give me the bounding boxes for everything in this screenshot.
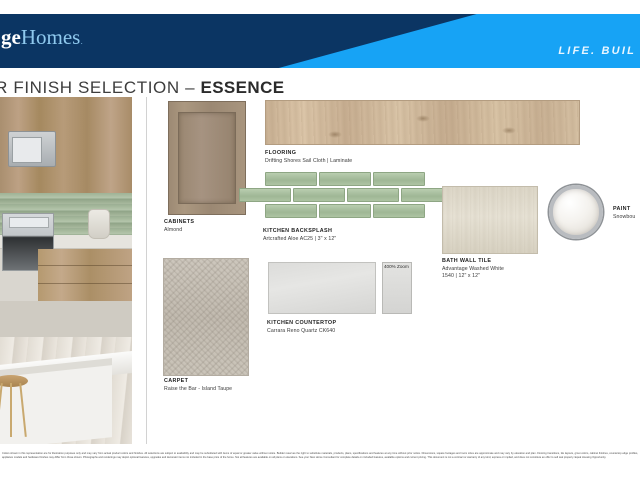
page-title: IOR FINISH SELECTION – ESSENCE (0, 78, 285, 98)
caption-flooring: FLOORING Drifting Shores Sail Cloth | La… (265, 150, 352, 164)
swatch-kitchen-countertop (268, 262, 376, 314)
caption-cabinets: CABINETS Almond (164, 219, 194, 233)
swatch-kitchen-backsplash (265, 172, 433, 222)
kitchen-interior-photo (0, 97, 132, 444)
caption-kitchen-backsplash: KITCHEN BACKSPLASH Artcrafted Aloe AC25 … (263, 228, 336, 242)
vertical-divider (146, 97, 147, 444)
caption-carpet-title: CARPET (164, 378, 232, 385)
caption-paint-detail: Snowbou (613, 214, 635, 221)
caption-countertop-detail: Carrara Reno Quartz CK640 (267, 328, 336, 335)
finish-selection-board: LIFE. BUIL ge Homes · IOR FINISH SELECTI… (0, 0, 640, 480)
logo-trademark: · (80, 39, 83, 48)
caption-bathtile-detail: Advantage Washed White (442, 266, 504, 273)
photo-base-cabinets (38, 249, 132, 301)
swatch-carpet (163, 258, 249, 376)
caption-cabinets-detail: Almond (164, 227, 194, 234)
swatch-countertop-zoom (382, 262, 412, 314)
swatch-cabinets (168, 101, 246, 215)
swatch-flooring (265, 100, 580, 145)
photo-decor-jar (88, 209, 110, 239)
caption-kitchen-countertop: KITCHEN COUNTERTOP Carrara Reno Quartz C… (267, 320, 336, 334)
caption-bath-wall-tile: BATH WALL TILE Advantage Washed White 15… (442, 258, 504, 280)
caption-bathtile-title: BATH WALL TILE (442, 258, 504, 265)
caption-paint-title: PAINT (613, 206, 635, 213)
caption-backsplash-detail: Artcrafted Aloe AC25 | 3" x 12" (263, 236, 336, 243)
photo-bar-stool (0, 375, 28, 439)
photo-stool-seat (0, 375, 28, 387)
caption-carpet: CARPET Raise the Bar - Island Taupe (164, 378, 232, 392)
page-title-prefix: IOR FINISH SELECTION – (0, 78, 200, 97)
footer-disclaimer: Colors shown in this representation are … (2, 452, 638, 460)
header-banner: LIFE. BUIL (0, 14, 640, 68)
caption-carpet-detail: Raise the Bar - Island Taupe (164, 386, 232, 393)
caption-bathtile-detail2: 1540 | 12" x 12" (442, 273, 504, 280)
caption-paint: PAINT Snowbou (613, 206, 635, 220)
photo-microwave (8, 131, 56, 167)
page-title-collection: ESSENCE (200, 78, 284, 97)
caption-flooring-title: FLOORING (265, 150, 352, 157)
cabinet-door-panel (178, 112, 236, 204)
brand-tagline: LIFE. BUIL (558, 45, 636, 57)
caption-cabinets-title: CABINETS (164, 219, 194, 226)
caption-backsplash-title: KITCHEN BACKSPLASH (263, 228, 336, 235)
caption-flooring-detail: Drifting Shores Sail Cloth | Laminate (265, 158, 352, 165)
logo-text-primary: ge (1, 27, 21, 48)
caption-countertop-title: KITCHEN COUNTERTOP (267, 320, 336, 327)
logo-text-secondary: Homes (21, 27, 81, 48)
brand-logo: ge Homes · (0, 18, 83, 48)
zoom-callout-label: 400% Zoom (384, 264, 409, 269)
swatch-bath-wall-tile (442, 186, 538, 254)
swatch-paint (549, 185, 603, 239)
